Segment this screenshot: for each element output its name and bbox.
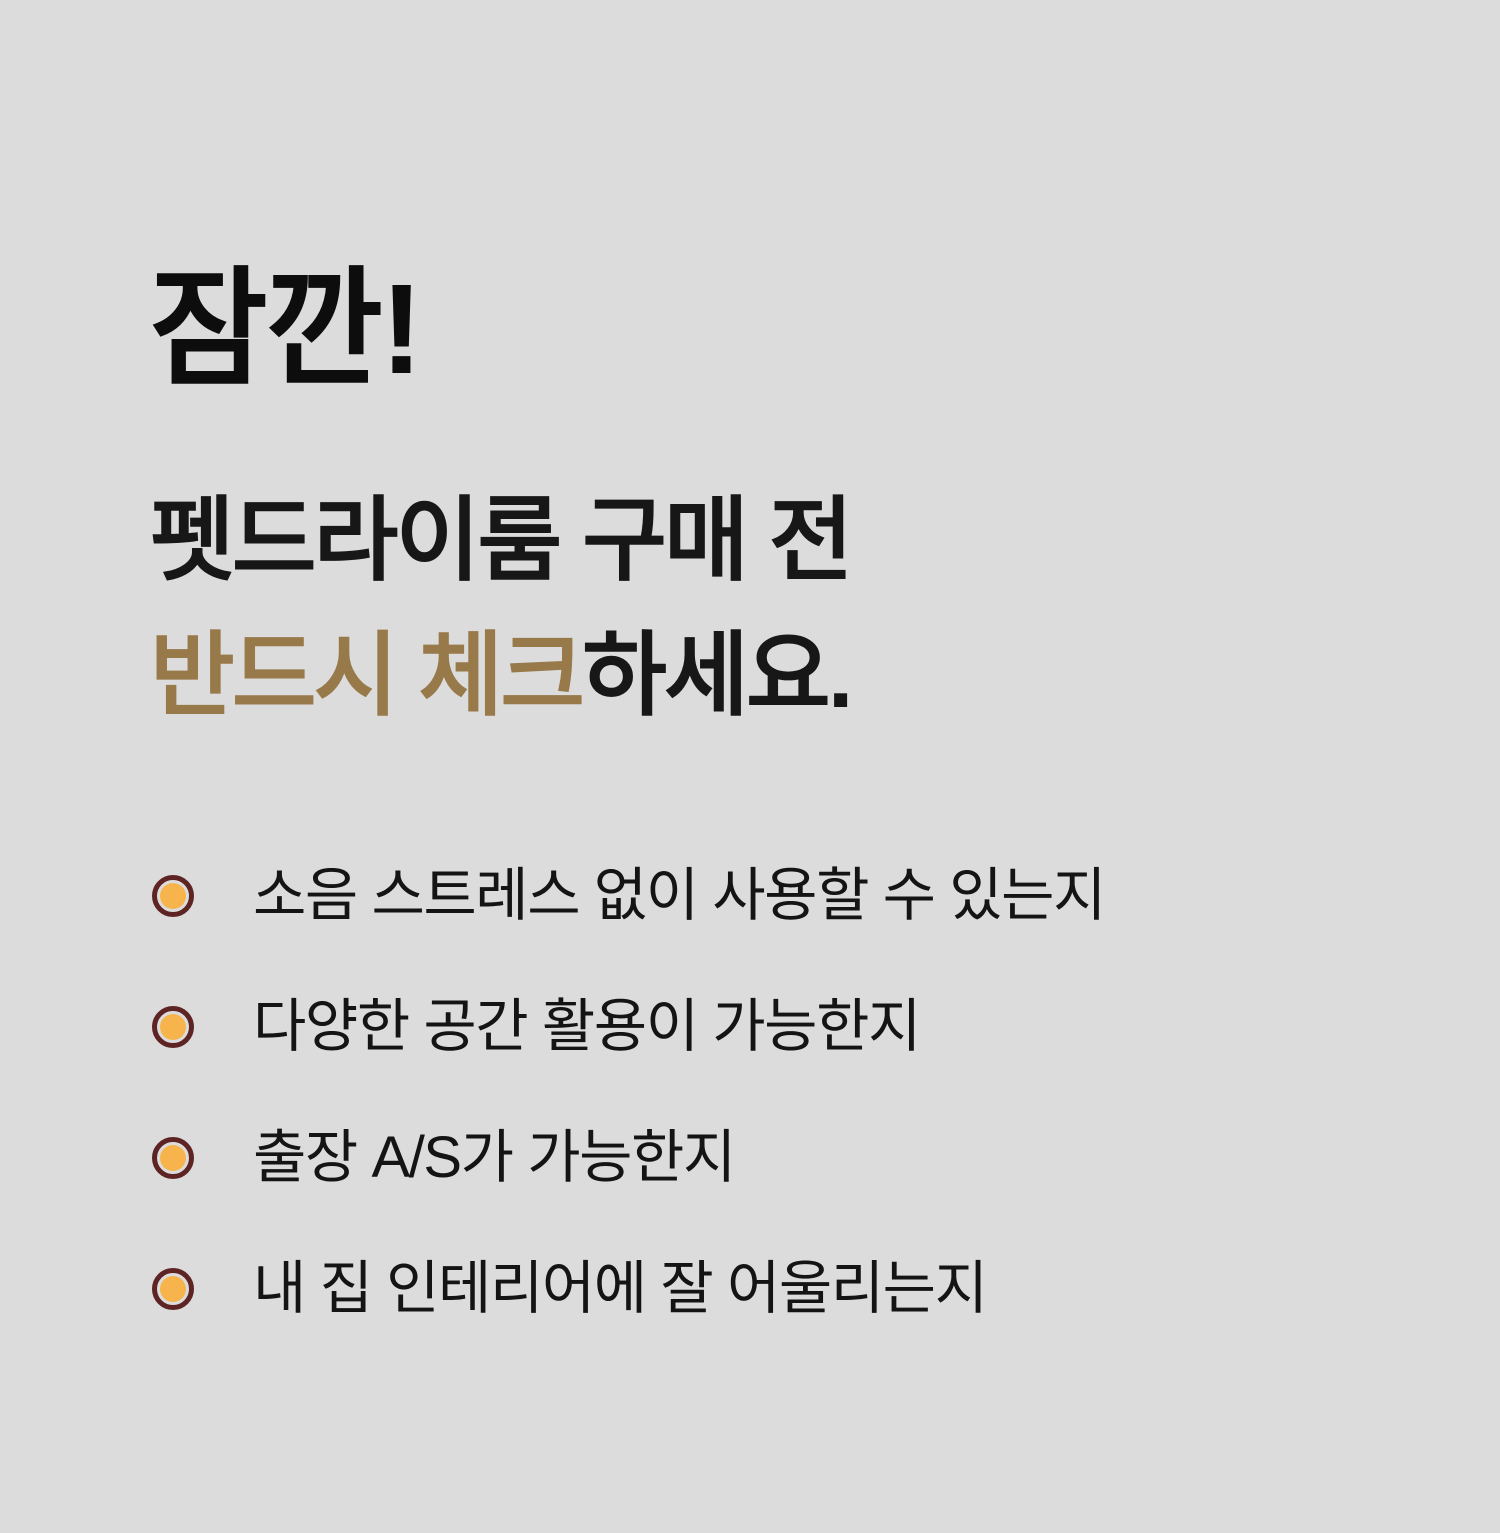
- list-item: 내 집 인테리어에 잘 어울리는지: [152, 1261, 1105, 1317]
- subheadline-line-1: 펫드라이룸 구매 전: [150, 474, 851, 608]
- checklist: 소음 스트레스 없이 사용할 수 있는지 다양한 공간 활용이 가능한지 출장 …: [152, 868, 1105, 1317]
- page-title: 잠깐!: [150, 254, 420, 405]
- checklist-item-label: 출장 A/S가 가능한지: [253, 1129, 735, 1187]
- checklist-item-label: 내 집 인테리어에 잘 어울리는지: [253, 1260, 987, 1318]
- subheadline-plain-text: 하세요.: [582, 625, 850, 727]
- list-item: 출장 A/S가 가능한지: [152, 1130, 1105, 1186]
- subheadline-accent-text: 반드시 체크: [150, 625, 582, 727]
- checklist-item-label: 소음 스트레스 없이 사용할 수 있는지: [253, 867, 1105, 925]
- filled-circle-bullet-icon: [152, 1137, 194, 1179]
- checklist-item-label: 다양한 공간 활용이 가능한지: [253, 998, 920, 1056]
- subheadline-line-2: 반드시 체크하세요.: [150, 609, 851, 743]
- subheadline: 펫드라이룸 구매 전 반드시 체크하세요.: [150, 474, 851, 743]
- list-item: 소음 스트레스 없이 사용할 수 있는지: [152, 868, 1105, 924]
- filled-circle-bullet-icon: [152, 875, 194, 917]
- list-item: 다양한 공간 활용이 가능한지: [152, 999, 1105, 1055]
- promo-page: 잠깐! 펫드라이룸 구매 전 반드시 체크하세요. 소음 스트레스 없이 사용할…: [0, 0, 1500, 1533]
- filled-circle-bullet-icon: [152, 1268, 194, 1310]
- filled-circle-bullet-icon: [152, 1006, 194, 1048]
